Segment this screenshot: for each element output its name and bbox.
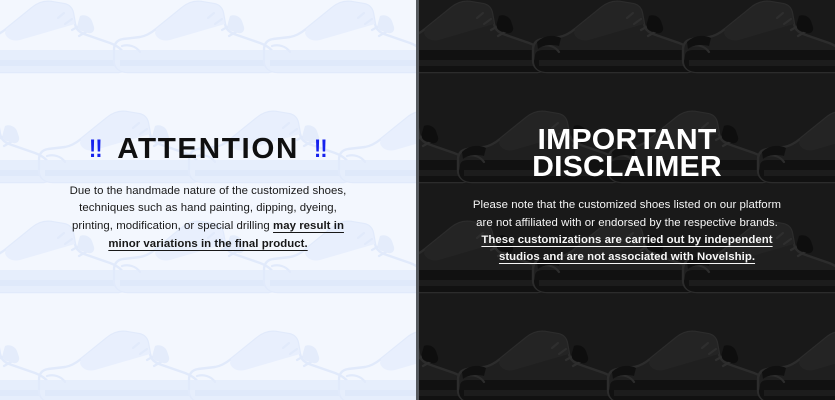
attention-content: !! ATTENTION !! Due to the handmade natu… (0, 135, 416, 253)
attention-panel: !! ATTENTION !! Due to the handmade natu… (0, 0, 416, 400)
disclaimer-body-normal: Please note that the customized shoes li… (473, 199, 781, 228)
disclaimer-panel: IMPORTANT DISCLAIMER Please note that th… (419, 0, 835, 400)
disclaimer-body-emphasis: These customizations are carried out by … (481, 234, 772, 263)
attention-heading-text: ATTENTION (117, 135, 299, 164)
disclaimer-heading-line2: DISCLAIMER (440, 154, 814, 181)
bangs-left-icon: !! (89, 137, 102, 162)
disclaimer-content: IMPORTANT DISCLAIMER Please note that th… (419, 127, 835, 267)
disclaimer-banner: !! ATTENTION !! Due to the handmade natu… (0, 0, 835, 400)
attention-heading: !! ATTENTION !! (34, 135, 382, 164)
disclaimer-body: Please note that the customized shoes li… (471, 197, 783, 267)
bangs-right-icon: !! (314, 137, 327, 162)
attention-body: Due to the handmade nature of the custom… (58, 183, 358, 253)
disclaimer-heading: IMPORTANT DISCLAIMER (440, 127, 814, 181)
